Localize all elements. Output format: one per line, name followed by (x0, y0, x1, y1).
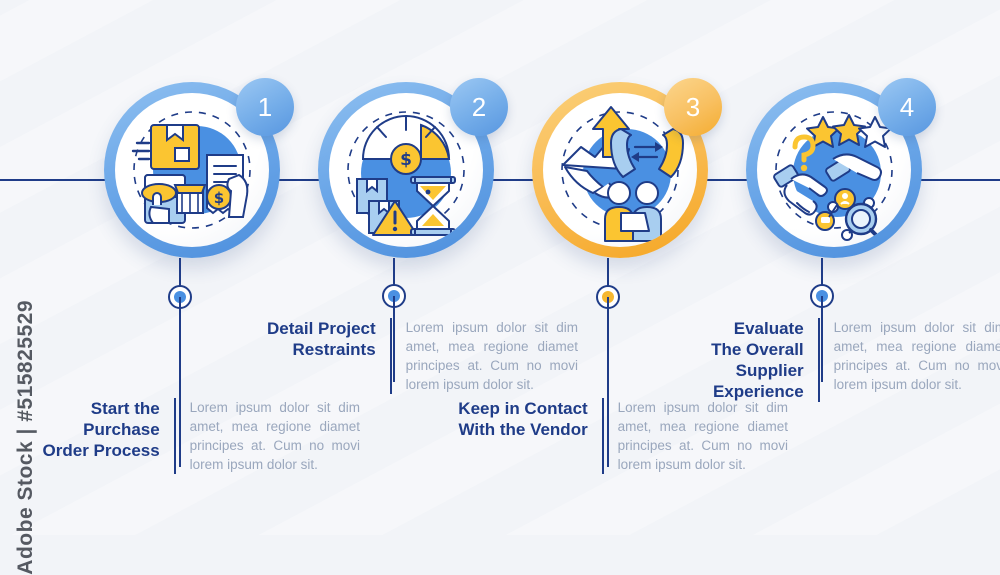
step-title-3: Keep in Contact With the Vendor (428, 398, 602, 440)
step-title-2: Detail Project Restraints (218, 318, 390, 360)
step-text-3: Keep in Contact With the Vendor Lorem ip… (428, 398, 788, 474)
step-text-4: Evaluate The Overall Supplier Experience… (646, 318, 1000, 402)
step-number-1: 1 (258, 92, 272, 123)
step-number-badge-3: 3 (664, 78, 722, 136)
step-number-badge-1: 1 (236, 78, 294, 136)
step-number-2: 2 (472, 92, 486, 123)
step-number-badge-2: 2 (450, 78, 508, 136)
stock-watermark-label: Adobe Stock | #515825529 (14, 300, 38, 575)
step-number-badge-4: 4 (878, 78, 936, 136)
step-circle-3[interactable]: 3 (532, 82, 708, 258)
step-circle-4[interactable]: 4 (746, 82, 922, 258)
infographic-canvas: $ 1 Start the Purchase Order Process Lor… (0, 0, 1000, 535)
svg-text:$: $ (400, 150, 412, 170)
step-body-1: Lorem ipsum dolor sit dim amet, mea regi… (176, 398, 360, 474)
step-circle-2[interactable]: $ 2 (318, 82, 494, 258)
step-title-4: Evaluate The Overall Supplier Experience (646, 318, 818, 402)
step-body-2: Lorem ipsum dolor sit dim amet, mea regi… (392, 318, 578, 394)
step-body-4: Lorem ipsum dolor sit dim amet, mea regi… (820, 318, 1000, 394)
step-text-1: Start the Purchase Order Process Lorem i… (0, 398, 360, 474)
step-circle-1[interactable]: $ 1 (104, 82, 280, 258)
step-text-2: Detail Project Restraints Lorem ipsum do… (218, 318, 578, 394)
svg-text:$: $ (214, 189, 224, 207)
step-body-3: Lorem ipsum dolor sit dim amet, mea regi… (604, 398, 788, 474)
step-number-3: 3 (686, 92, 700, 123)
step-number-4: 4 (900, 92, 914, 123)
